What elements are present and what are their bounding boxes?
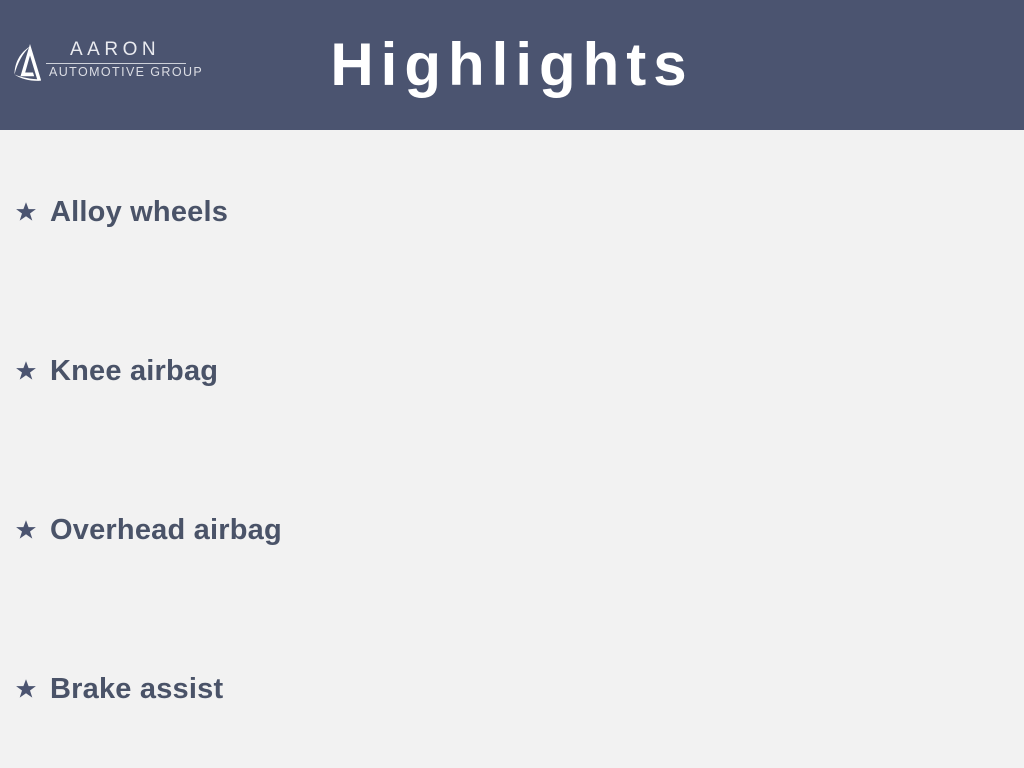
list-item-label: Overhead airbag bbox=[50, 516, 282, 545]
star-icon bbox=[14, 518, 38, 542]
list-item: Brake assist bbox=[14, 669, 223, 709]
star-icon bbox=[14, 200, 38, 224]
list-item-label: Knee airbag bbox=[50, 357, 218, 386]
list-item: Knee airbag bbox=[14, 351, 218, 391]
highlights-list: Alloy wheels Knee airbag Overhead airbag bbox=[0, 130, 1024, 768]
list-item: Overhead airbag bbox=[14, 510, 282, 550]
highlights-slide: AARON AUTOMOTIVE GROUP Highlights Alloy … bbox=[0, 0, 1024, 768]
star-icon bbox=[14, 359, 38, 383]
list-item-label: Alloy wheels bbox=[50, 198, 228, 227]
star-icon bbox=[14, 677, 38, 701]
list-item: Alloy wheels bbox=[14, 192, 228, 232]
page-title: Highlights bbox=[0, 0, 1024, 130]
slide-header: AARON AUTOMOTIVE GROUP Highlights bbox=[0, 0, 1024, 130]
list-item-label: Brake assist bbox=[50, 675, 223, 704]
